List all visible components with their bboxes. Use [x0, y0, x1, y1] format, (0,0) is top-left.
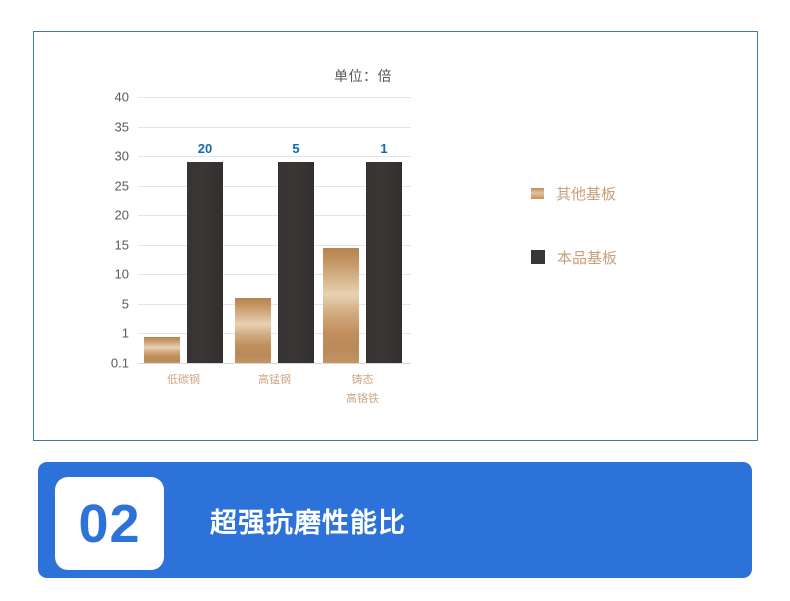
section-number-box: 02 [55, 477, 164, 570]
bar-group: 20低碳钢 [144, 97, 232, 363]
bar-other-substrate[interactable] [144, 337, 180, 363]
y-axis-tick-label: 10 [115, 267, 129, 282]
y-axis-tick-label: 1 [122, 326, 129, 341]
bar-other-substrate[interactable] [323, 248, 359, 363]
bar-value-label: 1 [380, 141, 387, 156]
y-axis-tick-label: 25 [115, 178, 129, 193]
chart-card: 单位：倍 40353025201510510.1 20低碳钢5高锰钢1铸态高铬铁… [33, 31, 758, 441]
bar-our-substrate[interactable] [187, 162, 223, 363]
section-banner: 02 超强抗磨性能比 [38, 462, 752, 578]
x-axis-category-label: 高锰钢 [258, 371, 291, 390]
y-axis-tick-label: 20 [115, 208, 129, 223]
y-axis-tick-label: 5 [122, 296, 129, 311]
y-axis-tick-label: 35 [115, 119, 129, 134]
chart-plot-area: 40353025201510510.1 20低碳钢5高锰钢1铸态高铬铁 [138, 97, 411, 363]
legend-swatch-ours-icon [531, 250, 545, 264]
section-title: 超强抗磨性能比 [210, 462, 406, 578]
bar-our-substrate[interactable] [278, 162, 314, 363]
y-axis-tick-label: 40 [115, 90, 129, 105]
bar-group: 1铸态高铬铁 [323, 97, 411, 363]
legend-item-other[interactable]: 其他基板 [531, 182, 617, 204]
y-axis-tick-label: 30 [115, 149, 129, 164]
x-axis-category-label: 铸态高铬铁 [346, 371, 379, 409]
x-axis-category-label: 低碳钢 [167, 371, 200, 390]
section-number: 02 [78, 497, 140, 551]
y-axis-tick-label: 0.1 [111, 356, 129, 371]
bar-value-label: 5 [292, 141, 299, 156]
bar-our-substrate[interactable] [366, 162, 402, 363]
chart-legend: 其他基板 本品基板 [531, 182, 617, 310]
legend-swatch-other-icon [531, 188, 544, 199]
gridline: 0.1 [138, 363, 411, 364]
legend-item-ours[interactable]: 本品基板 [531, 246, 617, 268]
chart-unit-title: 单位：倍 [334, 66, 392, 86]
y-axis-tick-label: 15 [115, 237, 129, 252]
bar-value-label: 20 [198, 141, 212, 156]
legend-label-other: 其他基板 [556, 183, 616, 204]
legend-label-ours: 本品基板 [557, 247, 617, 268]
bar-other-substrate[interactable] [235, 298, 271, 363]
bar-group: 5高锰钢 [235, 97, 323, 363]
